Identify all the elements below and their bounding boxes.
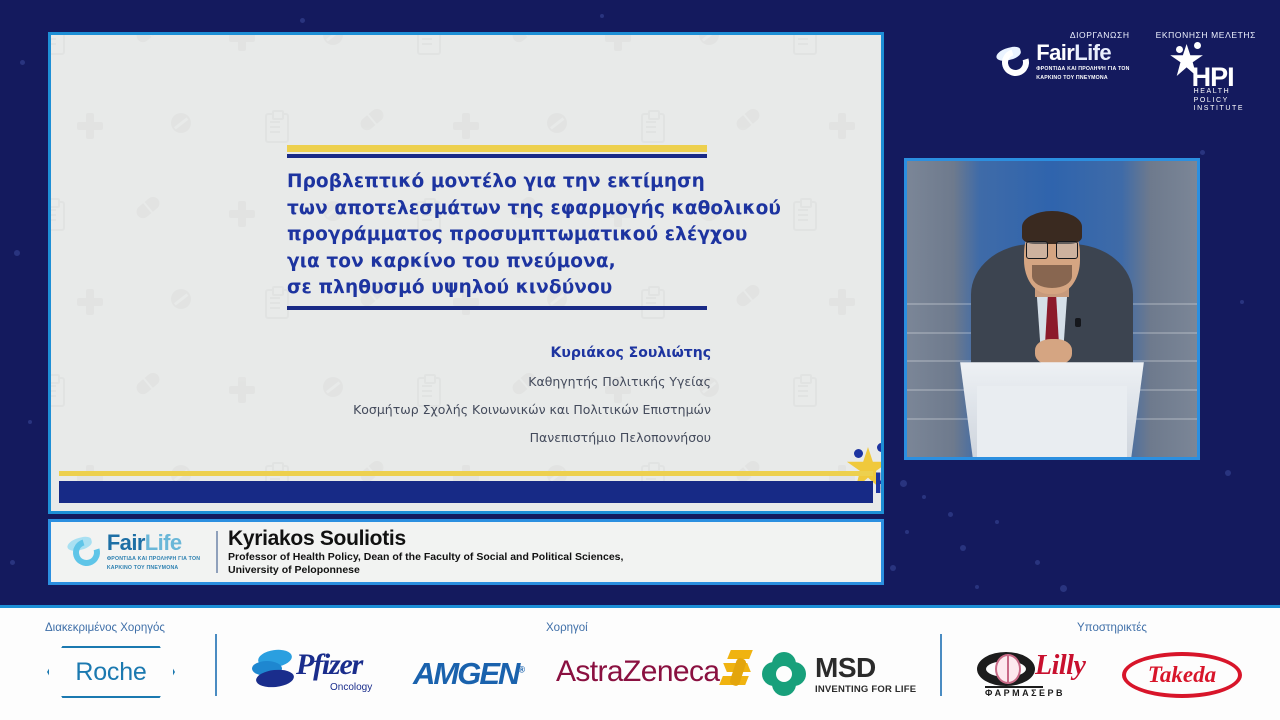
lilly-bar-icon (1007, 654, 1009, 684)
fairlife-swirl-icon (996, 45, 1036, 79)
pattern-cross-icon (77, 113, 103, 139)
slide-speaker-name: Κυριάκος Σουλιώτης (231, 345, 711, 361)
astrazeneca-wordmark: AstraZeneca (556, 655, 719, 689)
banner-fairlife-logo: FairLife ΦΡΟΝΤΙΔΑ ΚΑΙ ΠΡΟΛΗΨΗ ΓΙΑ ΤΟΝ ΚΑ… (51, 532, 216, 572)
organizer-caption: ΔΙΟΡΓΑΝΩΣΗ (996, 30, 1129, 40)
sponsor-logo-roche[interactable]: Roche (47, 646, 175, 698)
banner-speaker-title-1: Professor of Health Policy, Dean of the … (228, 551, 881, 564)
hpi-dot-right-icon (1194, 42, 1201, 49)
hpi-dot-right-icon (877, 443, 884, 452)
fairlife-brand-fair: Fair (1036, 40, 1074, 65)
speaker-name-banner: FairLife ΦΡΟΝΤΙΔΑ ΚΑΙ ΠΡΟΛΗΨΗ ΓΙΑ ΤΟΝ ΚΑ… (48, 519, 884, 585)
speaker-hair (1022, 211, 1083, 244)
hpi-dot-left-icon (1176, 46, 1183, 53)
footer-divider-2 (940, 634, 942, 696)
slide-speaker-role: Καθηγητής Πολιτικής Υγείας (231, 374, 711, 389)
slide-speaker-faculty: Κοσμήτωρ Σχολής Κοινωνικών και Πολιτικών… (231, 402, 711, 417)
pattern-cross-icon (829, 113, 855, 139)
msd-wordmark: MSD (815, 654, 916, 682)
sponsor-logo-astrazeneca[interactable]: AstraZeneca (556, 650, 755, 694)
title-line: των αποτελεσμάτων της εφαρμογής καθολικο… (287, 196, 737, 223)
footer-caption-sponsors: Χορηγοί (546, 622, 588, 634)
podium-base (977, 386, 1128, 457)
hpi-logo: HPI HEALTH POLICY INSTITUTE (1156, 42, 1252, 108)
title-line: Προβλεπτικό μοντέλο για την εκτίμηση (287, 169, 737, 196)
pattern-clip-icon (793, 32, 817, 55)
lilly-wordmark: Lilly (1035, 650, 1085, 682)
sponsor-logo-pfizer[interactable]: Pfizer Oncology (252, 642, 377, 698)
top-logo-group: ΔΙΟΡΓΑΝΩΣΗ FairLife ΦΡΟΝΤΙΔΑ ΚΑΙ ΠΡΟΛΗΨΗ… (996, 30, 1256, 108)
slide-hpi-brand: HPI (874, 467, 884, 501)
banner-speaker-title-2: University of Peloponnese (228, 564, 881, 577)
banner-divider (216, 531, 218, 573)
amgen-wordmark: AMGEN (413, 656, 518, 691)
pattern-tab-icon (171, 289, 191, 309)
pfizer-sub: Oncology (330, 682, 372, 693)
hpi-dot-left-icon (854, 449, 863, 458)
pattern-cross-icon (605, 32, 631, 51)
fairlife-swirl-icon (67, 535, 107, 569)
pattern-pill-icon (734, 106, 762, 133)
pattern-pill-icon (134, 370, 162, 397)
slide-title: Προβλεπτικό μοντέλο για την εκτίμηση των… (287, 169, 737, 302)
fairlife-tagline-1: ΦΡΟΝΤΙΔΑ ΚΑΙ ΠΡΟΛΗΨΗ ΓΙΑ ΤΟΝ (1036, 66, 1129, 73)
roche-wordmark: Roche (47, 646, 175, 698)
speaker-glasses-icon (1026, 241, 1078, 259)
title-rule-navy-bottom (287, 306, 707, 310)
speaker-hands (1035, 339, 1073, 366)
fairlife-brand-life: Life (1074, 40, 1111, 65)
title-line: προγράμματος προσυμπτωματικού ελέγχου (287, 222, 737, 249)
pattern-clip-icon (641, 113, 665, 143)
banner-speaker-name: Kyriakos Souliotis (228, 527, 881, 551)
pfizer-helix-icon (252, 650, 296, 688)
pattern-clip-icon (793, 201, 817, 231)
slide-footer-yellow-bar (59, 471, 873, 476)
pattern-cross-icon (229, 32, 255, 51)
pattern-cross-icon (77, 289, 103, 315)
msd-tagline: INVENTING FOR LIFE (815, 685, 916, 695)
fairlife-tagline-2: ΚΑΡΚΙΝΟ ΤΟΥ ΠΝΕΥΜΟΝΑ (1036, 75, 1129, 82)
footer-caption-supporters: Υποστηρικτές (1077, 622, 1147, 634)
sponsor-footer: Διακεκριμένος Χορηγός Χορηγοί Υποστηρικτ… (0, 605, 1280, 720)
fairlife-tagline-1: ΦΡΟΝΤΙΔΑ ΚΑΙ ΠΡΟΛΗΨΗ ΓΙΑ ΤΟΝ (107, 556, 200, 563)
pattern-pill-icon (510, 32, 538, 45)
study-author-logo-unit: ΕΚΠΟΝΗΣΗ ΜΕΛΕΤΗΣ HPI HEALTH POLICY INSTI… (1156, 30, 1256, 108)
title-rule-navy-top (287, 154, 707, 158)
study-caption: ΕΚΠΟΝΗΣΗ ΜΕΛΕΤΗΣ (1156, 30, 1256, 40)
sponsor-logo-msd[interactable]: MSD INVENTING FOR LIFE (762, 652, 916, 696)
pattern-clip-icon (265, 289, 289, 319)
pfizer-wordmark: Pfizer (296, 648, 362, 682)
speaker-video-feed[interactable] (904, 158, 1200, 460)
footer-divider-1 (215, 634, 217, 696)
pattern-clip-icon (48, 201, 65, 231)
fairlife-tagline-2: ΚΑΡΚΙΝΟ ΤΟΥ ΠΝΕΥΜΟΝΑ (107, 565, 200, 572)
fairlife-brand-fair: Fair (107, 530, 145, 555)
fairlife-logo: FairLife ΦΡΟΝΤΙΔΑ ΚΑΙ ΠΡΟΛΗΨΗ ΓΙΑ ΤΟΝ ΚΑ… (996, 42, 1129, 82)
presentation-slide[interactable]: Προβλεπτικό μοντέλο για την εκτίμηση των… (48, 32, 884, 514)
sponsor-logo-lilly[interactable]: Lilly ΦΑΡΜΑΣΕΡΒ (977, 648, 1117, 700)
pattern-tab-icon (547, 113, 567, 133)
pattern-tab-icon (323, 32, 343, 45)
pattern-tab-icon (699, 32, 719, 45)
hpi-sub-2: POLICY (1194, 97, 1245, 106)
slide-speaker-block: Κυριάκος Σουλιώτης Καθηγητής Πολιτικής Υ… (231, 345, 711, 458)
sponsor-logo-takeda[interactable]: Takeda (1122, 652, 1242, 698)
pattern-pill-icon (734, 282, 762, 309)
lapel-microphone-icon (1075, 318, 1081, 327)
amgen-registered-icon: ® (518, 665, 525, 675)
pattern-cross-icon (829, 289, 855, 315)
title-rule-yellow (287, 145, 707, 152)
sponsor-logo-amgen[interactable]: AMGEN® (413, 656, 525, 692)
pattern-clip-icon (48, 377, 65, 407)
pattern-tab-icon (171, 113, 191, 133)
organizer-logo-unit: ΔΙΟΡΓΑΝΩΣΗ FairLife ΦΡΟΝΤΙΔΑ ΚΑΙ ΠΡΟΛΗΨΗ… (996, 30, 1129, 82)
title-line: σε πληθυσμό υψηλού κινδύνου (287, 275, 737, 302)
takeda-wordmark: Takeda (1122, 652, 1242, 698)
title-line: για τον καρκίνο του πνεύμονα, (287, 249, 737, 276)
pattern-pill-icon (134, 32, 162, 45)
pattern-cross-icon (453, 113, 479, 139)
astrazeneca-helix-icon (721, 650, 755, 694)
fairlife-brand-life: Life (145, 530, 182, 555)
pattern-clip-icon (265, 113, 289, 143)
hpi-sub-3: INSTITUTE (1194, 105, 1245, 114)
pattern-clip-icon (793, 377, 817, 407)
hpi-sub-1: HEALTH (1194, 88, 1245, 97)
slide-footer-navy-bar (59, 481, 873, 503)
pattern-cross-icon (229, 201, 255, 227)
pattern-pill-icon (134, 194, 162, 221)
pattern-pill-icon (358, 106, 386, 133)
msd-petal-icon (762, 652, 806, 696)
lilly-sub: ΦΑΡΜΑΣΕΡΒ (985, 688, 1065, 698)
slide-speaker-university: Πανεπιστήμιο Πελοποννήσου (231, 430, 711, 445)
pattern-clip-icon (417, 32, 441, 55)
footer-caption-distinguished: Διακεκριμένος Χορηγός (45, 622, 165, 634)
pattern-clip-icon (48, 32, 65, 55)
